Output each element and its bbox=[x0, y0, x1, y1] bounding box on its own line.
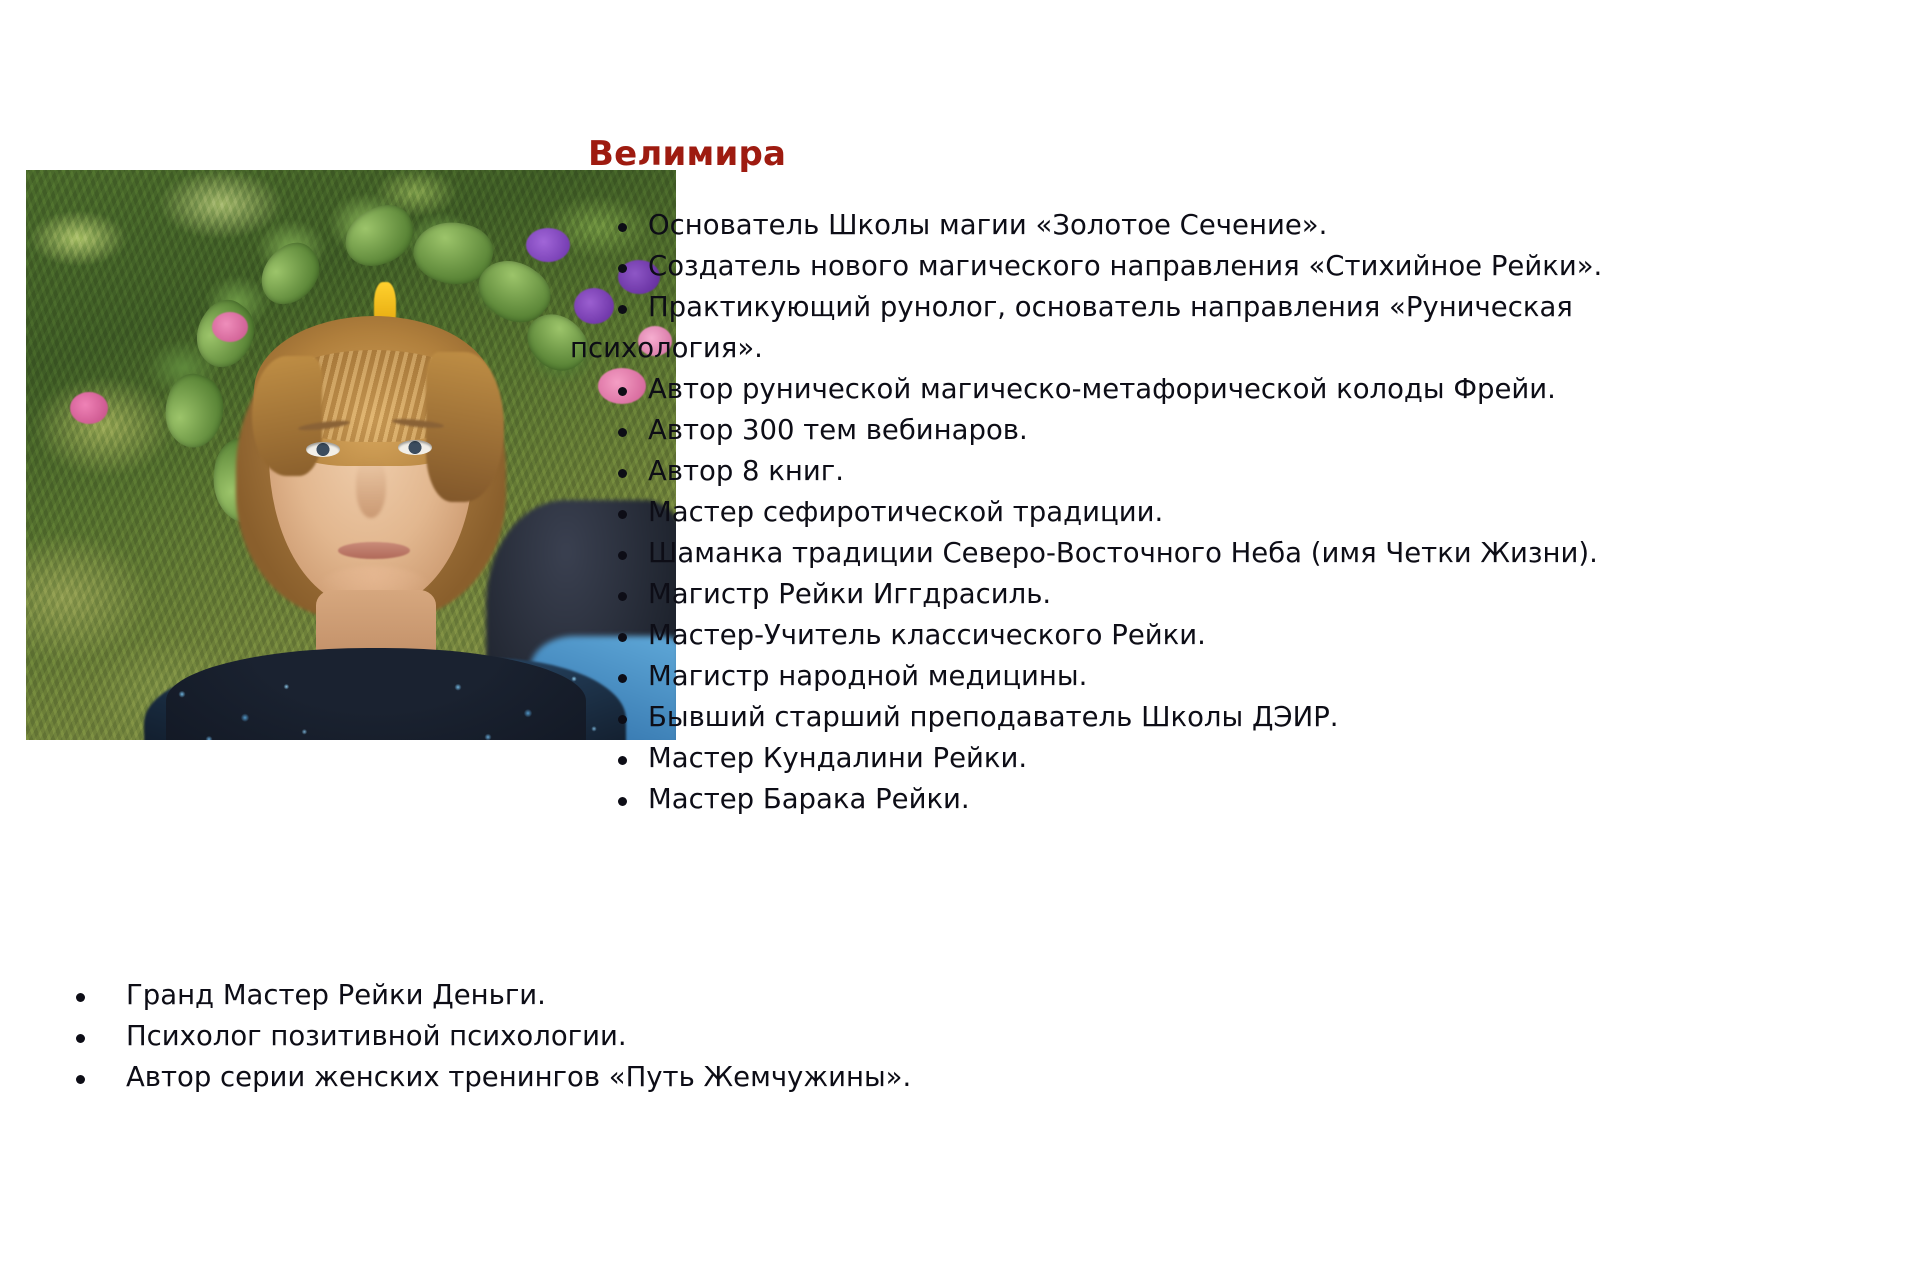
purple-flower-icon bbox=[526, 228, 570, 262]
slide-canvas: Велимира Основатель Школы магии «Золотое… bbox=[0, 0, 1920, 1280]
eye-left-icon bbox=[306, 442, 340, 457]
list-item: Бывший старший преподаватель Школы ДЭИР. bbox=[570, 697, 1920, 738]
page-title: Велимира bbox=[588, 134, 786, 174]
pink-flower-icon bbox=[70, 392, 108, 424]
list-item: Магистр народной медицины. bbox=[570, 656, 1920, 697]
list-item: Психолог позитивной психологии. bbox=[8, 1016, 1208, 1057]
list-item-continuation: психология». bbox=[570, 328, 1920, 369]
list-item: Практикующий рунолог, основатель направл… bbox=[570, 287, 1920, 328]
list-item: Шаманка традиции Северо-Восточного Неба … bbox=[570, 533, 1920, 574]
list-item: Мастер Барака Рейки. bbox=[570, 779, 1920, 820]
lace-pattern-left-icon bbox=[146, 666, 326, 740]
list-item: Автор рунической магическо-метафорическо… bbox=[570, 369, 1920, 410]
hair-side-left-icon bbox=[252, 356, 322, 476]
list-item: Создатель нового магического направления… bbox=[570, 246, 1920, 287]
pink-flower-icon bbox=[212, 312, 248, 342]
list-item: Основатель Школы магии «Золотое Сечение»… bbox=[570, 205, 1920, 246]
list-item: Автор 8 книг. bbox=[570, 451, 1920, 492]
list-item: Автор серии женских тренингов «Путь Жемч… bbox=[8, 1057, 1208, 1098]
list-item: Мастер сефиротической традиции. bbox=[570, 492, 1920, 533]
list-item: Автор 300 тем вебинаров. bbox=[570, 410, 1920, 451]
credentials-list: Основатель Школы магии «Золотое Сечение»… bbox=[570, 205, 1920, 820]
credentials-list-continued: Гранд Мастер Рейки Деньги. Психолог пози… bbox=[8, 975, 1208, 1098]
list-item: Мастер Кундалини Рейки. bbox=[570, 738, 1920, 779]
list-item: Гранд Мастер Рейки Деньги. bbox=[8, 975, 1208, 1016]
list-item: Магистр Рейки Иггдрасиль. bbox=[570, 574, 1920, 615]
nose-icon bbox=[356, 458, 386, 518]
mouth-icon bbox=[338, 542, 410, 559]
list-item: Мастер-Учитель классического Рейки. bbox=[570, 615, 1920, 656]
eye-right-icon bbox=[398, 440, 432, 455]
